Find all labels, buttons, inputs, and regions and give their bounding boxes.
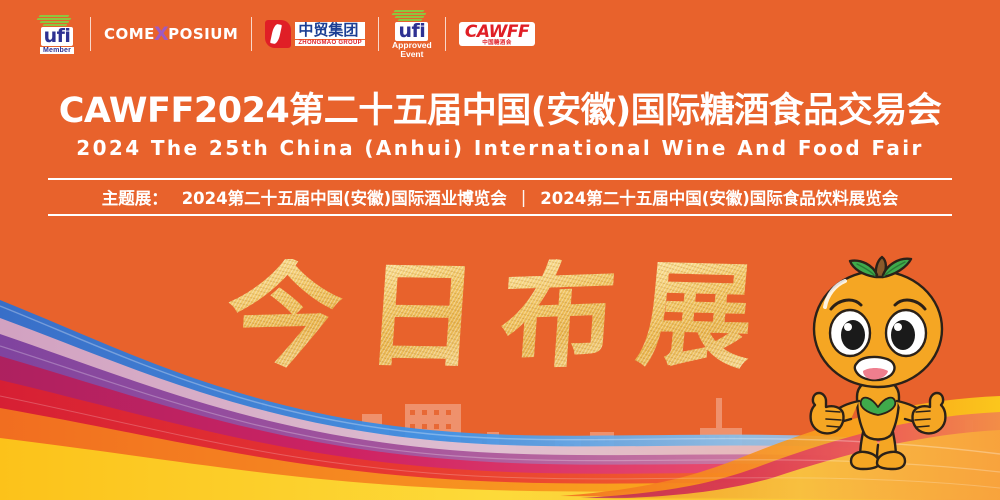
calligraphy-headline: 今 日 布 展 — [180, 246, 800, 386]
theme-row: 主题展：2024第二十五届中国(安徽)国际酒业博览会 | 2024第二十五届中国… — [48, 180, 952, 214]
ufi-approved-line2: Event — [400, 50, 423, 59]
rule-bottom — [48, 214, 952, 216]
mascot-right-thumbs-up — [913, 393, 946, 433]
zhongmao-english-name: ZHONGMAO GROUP — [295, 40, 365, 46]
comexposium-part2: POSIUM — [168, 25, 238, 43]
cawff-wordmark: CAWFF — [465, 24, 529, 41]
page-title-chinese: CAWFF2024第二十五届中国(安徽)国际糖酒食品交易会 — [0, 92, 1000, 131]
ufi-wordmark: ufi — [41, 27, 74, 46]
cawff-logo: CAWFF 中国糖酒会 — [446, 10, 548, 58]
theme-divider: | — [521, 188, 527, 207]
ufi-approved-event-logo: ufi Approved Event — [379, 10, 445, 58]
comexposium-logo: COMEXPOSIUM — [91, 10, 251, 58]
ufi-member-logo: ufi Member — [24, 10, 90, 58]
theme-exhibition-2: 2024第二十五届中国(安徽)国际食品饮料展览会 — [540, 185, 898, 209]
theme-exhibition-1: 2024第二十五届中国(安徽)国际酒业博览会 — [182, 185, 507, 209]
ufi-wordmark: ufi — [395, 22, 428, 41]
calligraphy-char-3: 布 — [497, 257, 620, 376]
theme-label: 主题展： — [102, 185, 168, 209]
mascot-right-foot — [877, 452, 905, 469]
calligraphy-char-4: 展 — [633, 257, 759, 375]
zhongmao-group-logo: 中贸集团 ZHONGMAO GROUP — [252, 10, 378, 58]
orange-fruit-mascot — [795, 255, 970, 480]
page-title-english: 2024 The 25th China (Anhui) Internationa… — [0, 136, 1000, 160]
ufi-member-caption: Member — [40, 47, 74, 54]
ufi-wings-icon — [392, 10, 432, 21]
exhibition-banner: ufi Member COMEXPOSIUM 中贸集团 ZHONGMAO GRO… — [0, 0, 1000, 500]
mascot-left-foot — [851, 452, 879, 469]
zhongmao-chinese-name: 中贸集团 — [295, 22, 365, 39]
calligraphy-char-1: 今 — [223, 257, 345, 375]
ufi-wings-icon — [37, 15, 77, 26]
headline-zone: CAWFF2024第二十五届中国(安徽)国际糖酒食品交易会 2024 The 2… — [0, 92, 1000, 160]
zhongmao-mark-icon — [265, 20, 291, 48]
sponsor-logo-bar: ufi Member COMEXPOSIUM 中贸集团 ZHONGMAO GRO… — [24, 8, 548, 60]
theme-exhibitions-block: 主题展：2024第二十五届中国(安徽)国际酒业博览会 | 2024第二十五届中国… — [48, 178, 952, 216]
calligraphy-char-2: 日 — [360, 258, 483, 375]
cawff-sub-caption: 中国糖酒会 — [482, 41, 512, 47]
mascot-left-thumbs-up — [811, 393, 844, 433]
comexposium-part1: COME — [104, 25, 155, 43]
comexposium-x-icon: X — [154, 23, 169, 45]
